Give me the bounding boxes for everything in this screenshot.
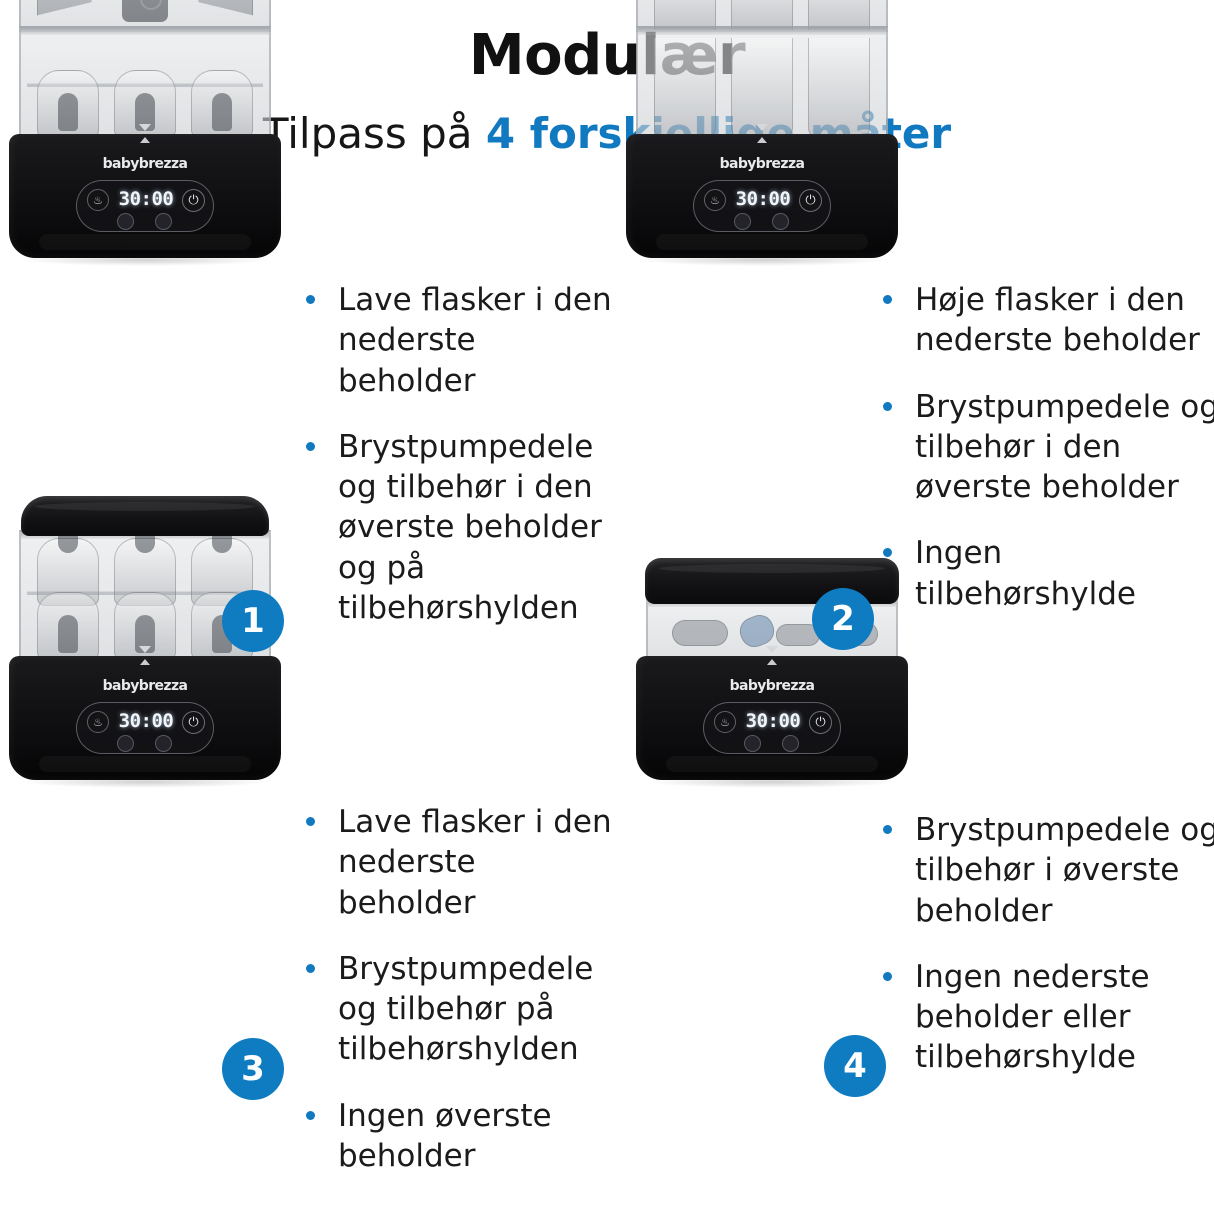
mode-button-1[interactable] xyxy=(117,735,134,752)
steam-valve-icon xyxy=(140,659,150,665)
timer-display: 30:00 xyxy=(115,188,177,210)
steam-valve-icon xyxy=(767,659,777,665)
bottle xyxy=(37,70,99,138)
tall-bottle xyxy=(654,38,716,138)
bottle xyxy=(191,70,253,138)
bullet-list-1: Lave flasker i den nederste beholder Bry… xyxy=(298,280,618,628)
config-2-text: Høje flasker i den nederste beholder Bry… xyxy=(875,280,1214,614)
bullet-text: Ingen nederste beholder eller tilbehørsh… xyxy=(915,959,1150,1076)
bullet-dot-icon xyxy=(306,295,315,304)
list-item: Brystpumpedele og tilbehør i den øverste… xyxy=(298,427,618,628)
bullet-dot-icon xyxy=(306,964,315,973)
configuration-4: babybrezza ♨ 30:00 ⏻ 4 Brystpumped xyxy=(607,780,1214,1200)
infographic-page: Modulær Tilpass på 4 forskjellige måter xyxy=(0,0,1214,1214)
bullet-text: Lave flasker i den nederste beholder xyxy=(338,804,612,921)
bullet-list-2: Høje flasker i den nederste beholder Bry… xyxy=(875,280,1214,614)
pump-funnel-left-icon xyxy=(37,0,115,18)
list-item: Ingen nederste beholder eller tilbehørsh… xyxy=(875,957,1214,1078)
configuration-3: babybrezza ♨ 30:00 ⏻ 3 Lave flaske xyxy=(0,780,607,1200)
device-lid xyxy=(21,496,269,536)
steriliser-device-2: babybrezza ♨ 30:00 ⏻ xyxy=(617,0,907,258)
steam-valve-icon xyxy=(140,137,150,143)
steam-valve-icon xyxy=(139,646,151,653)
bullet-list-4: Brystpumpedele og tilbehør i øverste beh… xyxy=(875,810,1214,1078)
bottle-nipple-icon xyxy=(58,93,78,131)
bullet-list-3: Lave flasker i den nederste beholder Bry… xyxy=(298,802,618,1176)
power-icon[interactable]: ⏻ xyxy=(799,189,822,212)
power-icon[interactable]: ⏻ xyxy=(182,711,205,734)
control-panel[interactable]: ♨ 30:00 ⏻ xyxy=(76,180,214,232)
bullet-dot-icon xyxy=(306,1111,315,1120)
bullet-dot-icon xyxy=(883,825,892,834)
mode-button-2[interactable] xyxy=(772,213,789,230)
mode-button-1[interactable] xyxy=(744,735,761,752)
steam-icon[interactable]: ♨ xyxy=(704,189,726,211)
mode-button-2[interactable] xyxy=(782,735,799,752)
bottle-nipple-icon xyxy=(58,615,78,653)
bullet-text: Ingen tilbehørshylde xyxy=(915,535,1136,611)
bullet-text: Ingen øverste beholder xyxy=(338,1098,552,1174)
device-base: babybrezza ♨ 30:00 ⏻ xyxy=(9,134,281,258)
bottle-row-lower xyxy=(638,38,886,138)
bullet-dot-icon xyxy=(883,295,892,304)
list-item: Ingen øverste beholder xyxy=(298,1096,618,1177)
mode-button-2[interactable] xyxy=(155,735,172,752)
device-base: babybrezza ♨ 30:00 ⏻ xyxy=(626,134,898,258)
chamber-rim xyxy=(638,28,886,35)
badge-number: 2 xyxy=(831,602,855,636)
step-badge-3: 3 xyxy=(222,1038,284,1100)
bottle xyxy=(37,592,99,660)
list-item: Lave flasker i den nederste beholder xyxy=(298,280,618,401)
bullet-text: Brystpumpedele og tilbehør på tilbehørsh… xyxy=(338,951,593,1068)
brand-logo: babybrezza xyxy=(636,678,908,694)
list-item: Brystpumpedele og tilbehør i øverste beh… xyxy=(875,810,1214,931)
steam-valve-icon xyxy=(756,124,768,131)
badge-number: 4 xyxy=(843,1049,867,1083)
list-item: Høje flasker i den nederste beholder xyxy=(875,280,1214,361)
steam-valve-icon xyxy=(139,124,151,131)
steriliser-device-4: babybrezza ♨ 30:00 ⏻ xyxy=(627,558,917,780)
config-4-text: Brystpumpedele og tilbehør i øverste beh… xyxy=(875,810,1214,1078)
badge-number: 1 xyxy=(241,604,265,638)
lower-chamber xyxy=(636,26,888,138)
step-badge-2: 2 xyxy=(812,588,874,650)
mode-button-2[interactable] xyxy=(155,213,172,230)
brand-logo: babybrezza xyxy=(9,156,281,172)
steam-icon[interactable]: ♨ xyxy=(714,711,736,733)
config-3-text: Lave flasker i den nederste beholder Bry… xyxy=(298,802,618,1176)
control-panel[interactable]: ♨ 30:00 ⏻ xyxy=(703,702,841,754)
bullet-text: Brystpumpedele og tilbehør i den øverste… xyxy=(915,389,1214,506)
steriliser-device-1: babybrezza ♨ 30:00 ⏻ xyxy=(0,0,290,258)
timer-display: 30:00 xyxy=(742,710,804,732)
bullet-text: Brystpumpedele og tilbehør i den øverste… xyxy=(338,429,602,626)
subtitle-prefix: Tilpass på xyxy=(263,109,486,158)
config-1-text: Lave flasker i den nederste beholder Bry… xyxy=(298,280,618,628)
timer-display: 30:00 xyxy=(732,188,794,210)
breast-pump-parts xyxy=(21,0,269,26)
brand-logo: babybrezza xyxy=(626,156,898,172)
step-badge-1: 1 xyxy=(222,590,284,652)
timer-display: 30:00 xyxy=(115,710,177,732)
accessory-icon xyxy=(672,620,728,646)
mode-button-1[interactable] xyxy=(734,213,751,230)
steam-valve-icon xyxy=(757,137,767,143)
bullet-text: Høje flasker i den nederste beholder xyxy=(915,282,1200,358)
badge-number: 3 xyxy=(241,1052,265,1086)
pump-hub-icon xyxy=(122,0,168,22)
control-panel[interactable]: ♨ 30:00 ⏻ xyxy=(76,702,214,754)
bullet-text: Lave flasker i den nederste beholder xyxy=(338,282,612,399)
steam-icon[interactable]: ♨ xyxy=(87,189,109,211)
list-item: Lave flasker i den nederste beholder xyxy=(298,802,618,923)
chamber-rim xyxy=(21,28,269,35)
lower-chamber xyxy=(19,26,271,138)
steam-icon[interactable]: ♨ xyxy=(87,711,109,733)
list-item: Brystpumpedele og tilbehør på tilbehørsh… xyxy=(298,949,618,1070)
list-item: Ingen tilbehørshylde xyxy=(875,533,1214,614)
bullet-dot-icon xyxy=(883,548,892,557)
bullet-dot-icon xyxy=(883,972,892,981)
pump-funnel-right-icon xyxy=(175,0,253,18)
bullet-dot-icon xyxy=(306,817,315,826)
bullet-dot-icon xyxy=(306,442,315,451)
tall-bottle xyxy=(808,38,870,138)
mode-button-1[interactable] xyxy=(117,213,134,230)
device-base: babybrezza ♨ 30:00 ⏻ xyxy=(636,656,908,780)
device-base: babybrezza ♨ 30:00 ⏻ xyxy=(9,656,281,780)
bullet-text: Brystpumpedele og tilbehør i øverste beh… xyxy=(915,812,1214,929)
steam-valve-icon xyxy=(766,646,778,653)
step-badge-4: 4 xyxy=(824,1035,886,1097)
power-icon[interactable]: ⏻ xyxy=(182,189,205,212)
list-item: Brystpumpedele og tilbehør i den øverste… xyxy=(875,387,1214,508)
bullet-dot-icon xyxy=(883,402,892,411)
power-icon[interactable]: ⏻ xyxy=(809,711,832,734)
control-panel[interactable]: ♨ 30:00 ⏻ xyxy=(693,180,831,232)
tall-bottle xyxy=(731,38,793,138)
brand-logo: babybrezza xyxy=(9,678,281,694)
bottle-nipple-icon xyxy=(212,93,232,131)
